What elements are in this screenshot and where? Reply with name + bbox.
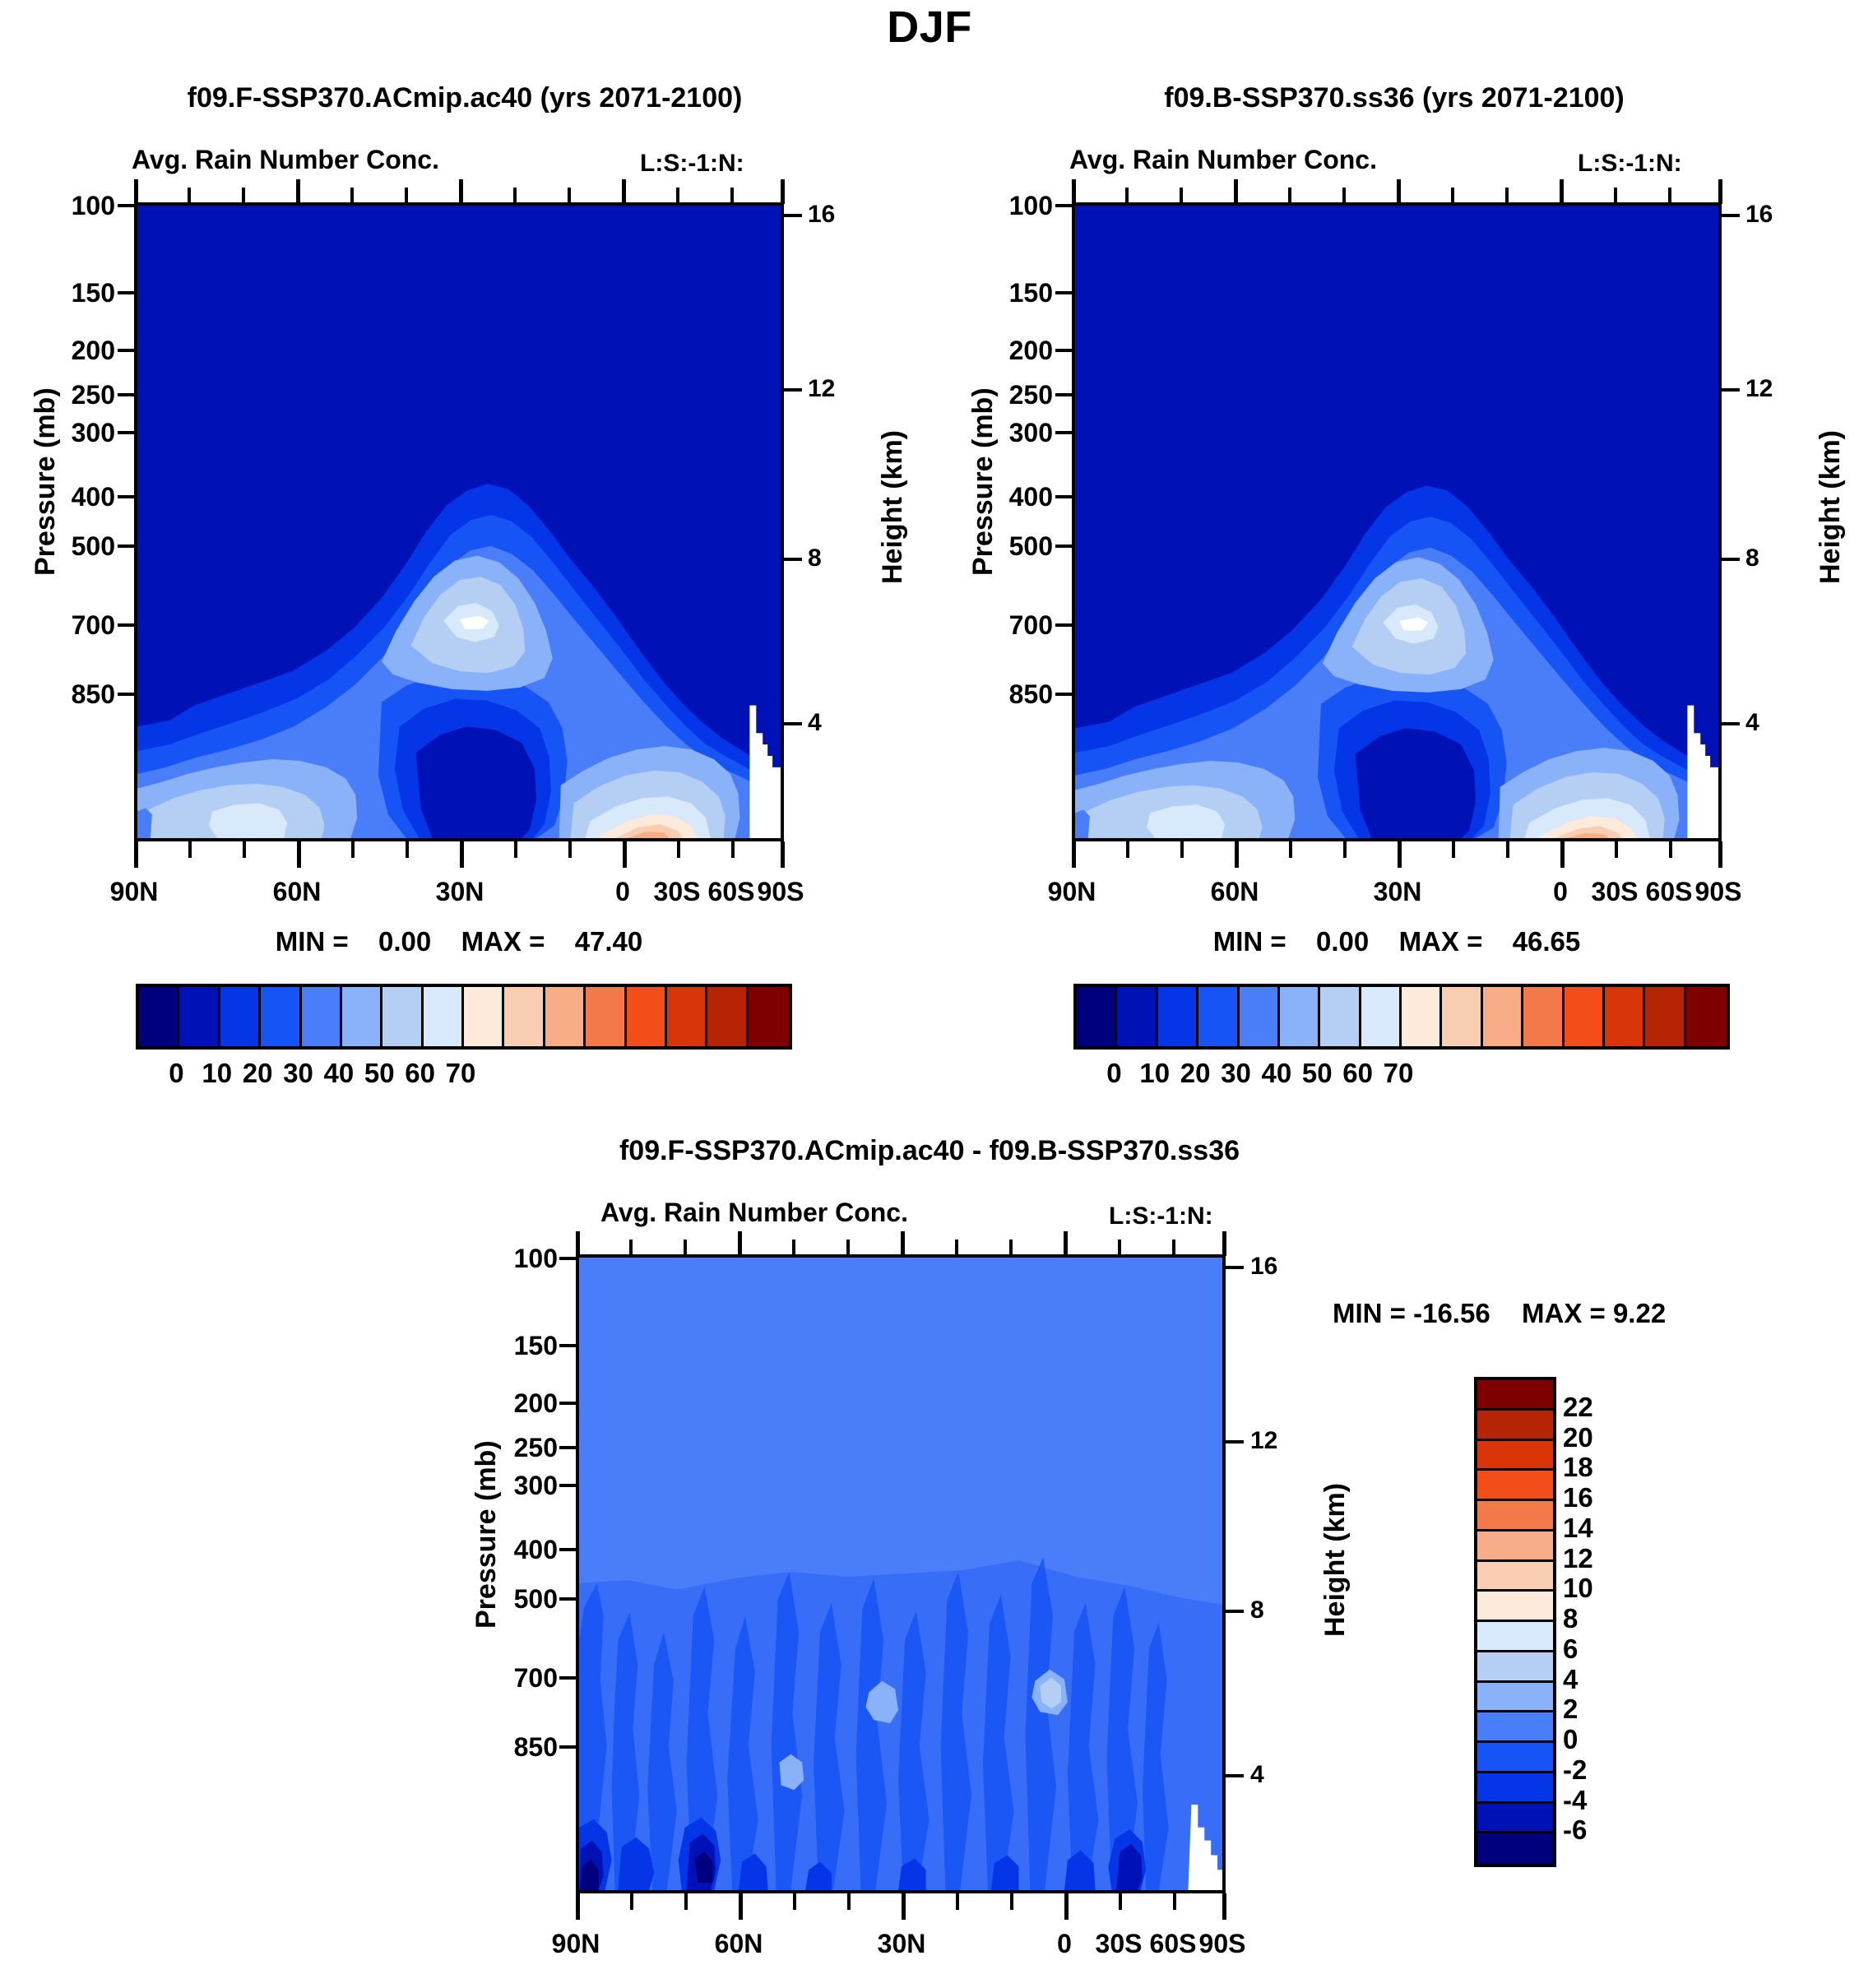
panel-b-htick-mark-12	[1722, 388, 1740, 392]
colorbar-tick-0: 0	[1106, 1058, 1121, 1089]
colorbar-swatch-6	[1477, 1562, 1553, 1592]
panel-b-toptick-minor-2	[1180, 188, 1183, 204]
panel-a-xtick-major-30N	[460, 841, 464, 868]
panel-a-ytick-400: 400	[25, 482, 115, 512]
panel-a-ytick-500: 500	[25, 531, 115, 562]
panel-a-xtick-minor-4	[406, 841, 409, 858]
panel-a-ytick-100: 100	[25, 191, 115, 221]
panel-c-colorbar-labels: 2220181614121086420-2-4-6	[1563, 1377, 1662, 1861]
panel-c-toptick-major-2	[738, 1231, 742, 1256]
panel-b-xtick-major-30N	[1398, 841, 1402, 868]
colorbar-tick-30: 30	[1221, 1058, 1251, 1089]
panel-b-toptick-minor-3	[1288, 188, 1291, 204]
panel-c-min-label: MIN = -16.56	[1333, 1298, 1490, 1328]
panel-a-toptick-minor-7	[676, 188, 679, 204]
panel-a-ytick-mark-300	[118, 431, 136, 434]
colorbar-swatch-2	[220, 987, 261, 1046]
panel-a-htick-12: 12	[808, 375, 835, 403]
panel-b-htick-8: 8	[1745, 544, 1759, 572]
colorbar-tick-0: 0	[169, 1058, 183, 1089]
panel-a-htick-mark-8	[784, 558, 802, 561]
colorbar-tick-20: 20	[1563, 1422, 1593, 1453]
colorbar-swatch-15	[1477, 1833, 1553, 1864]
panel-c-xtick-minor-1	[630, 1893, 633, 1910]
colorbar-swatch-4	[1240, 987, 1280, 1046]
colorbar-swatch-12	[627, 987, 667, 1046]
colorbar-swatch-3	[261, 987, 301, 1046]
panel-b-ytick-300: 300	[962, 418, 1053, 448]
panel-b-toptick-major-1	[1072, 179, 1076, 204]
panel-a-colorbar[interactable]	[136, 984, 792, 1050]
panel-c-toptick-major-1	[576, 1231, 580, 1256]
panel-a-ytick-mark-250	[118, 393, 136, 396]
panel-c-ytick-100: 100	[467, 1244, 558, 1274]
panel-c-toptick-minor-1	[629, 1240, 633, 1256]
panel-b-ytick-700: 700	[962, 610, 1053, 641]
panel-c-ytick-400: 400	[467, 1535, 558, 1565]
panel-a-ytick-mark-200	[118, 349, 136, 352]
colorbar-swatch-0	[1077, 987, 1117, 1046]
panel-b-y2-axis-title: Height (km)	[1815, 430, 1847, 584]
colorbar-tick-8: 8	[1563, 1603, 1578, 1634]
panel-c-ytick-250: 250	[467, 1433, 558, 1463]
colorbar-tick-4: 4	[1563, 1664, 1578, 1695]
panel-a-xtick-minor-2	[243, 841, 246, 858]
panel-b-ytick-150: 150	[962, 278, 1053, 308]
panel-b-ytick-200: 200	[962, 336, 1053, 366]
panel-c-htick-4: 4	[1250, 1761, 1264, 1789]
panel-a-min-value: 0.00	[378, 926, 431, 957]
panel-b-ytick-400: 400	[962, 482, 1053, 512]
colorbar-swatch-8	[1477, 1622, 1553, 1652]
colorbar-tick-30: 30	[283, 1058, 313, 1089]
panel-a-toptick-major-1	[134, 179, 138, 204]
colorbar-swatch-11	[586, 987, 626, 1046]
colorbar-swatch-5	[1280, 987, 1320, 1046]
panel-c-toptick-major-3	[901, 1231, 905, 1256]
colorbar-swatch-8	[464, 987, 504, 1046]
panel-a-toptick-minor-6	[568, 188, 571, 204]
panel-b-ls-label: L:S:-1:N:	[1578, 150, 1682, 178]
panel-c-max-label: MAX = 9.22	[1522, 1298, 1666, 1328]
colorbar-tick-50: 50	[364, 1058, 395, 1089]
colorbar-swatch-1	[179, 987, 220, 1046]
colorbar-swatch-7	[1477, 1592, 1553, 1622]
panel-a-toptick-minor-5	[513, 188, 517, 204]
panel-c-colorbar[interactable]	[1474, 1377, 1556, 1867]
panel-b-contour-field	[1075, 206, 1718, 838]
panel-b-xtick-90N: 90N	[1022, 877, 1121, 907]
colorbar-swatch-13	[667, 987, 707, 1046]
panel-b-toptick-minor-8	[1668, 188, 1671, 204]
panel-a-xtick-90S: 90S	[731, 877, 830, 907]
panel-b-xtick-minor-4	[1343, 841, 1347, 858]
panel-b-ytick-100: 100	[962, 191, 1053, 221]
colorbar-swatch-13	[1477, 1773, 1553, 1804]
panel-a-ls-label: L:S:-1:N:	[640, 150, 744, 178]
panel-a-ytick-mark-100	[118, 204, 136, 207]
panel-b-toptick-minor-7	[1614, 188, 1617, 204]
panel-a-max-label: MAX =	[461, 926, 545, 957]
panel-b-xtick-major-60N	[1235, 841, 1239, 868]
panel-b-ytick-mark-500	[1055, 544, 1073, 548]
panel-c-htick-mark-12	[1226, 1440, 1244, 1444]
colorbar-swatch-4	[302, 987, 342, 1046]
colorbar-swatch-2	[1158, 987, 1198, 1046]
colorbar-swatch-0	[1477, 1380, 1553, 1411]
panel-c-xtick-minor-7	[1119, 1893, 1122, 1910]
colorbar-tick-40: 40	[324, 1058, 355, 1089]
colorbar-tick-10: 10	[1139, 1058, 1170, 1089]
panel-b-max-value: 46.65	[1513, 926, 1581, 957]
panel-b-xtick-90S: 90S	[1669, 877, 1768, 907]
panel-a-htick-mark-4	[784, 722, 802, 725]
panel-b-toptick-minor-5	[1451, 188, 1454, 204]
panel-c-toptick-minor-3	[792, 1240, 795, 1256]
colorbar-tick-10: 10	[1563, 1573, 1593, 1604]
panel-a-variable-label: Avg. Rain Number Conc.	[132, 145, 439, 175]
panel-a-xtick-minor-8	[731, 841, 735, 858]
colorbar-swatch-14	[1477, 1804, 1553, 1834]
panel-a-plot-area[interactable]	[134, 202, 784, 841]
panel-b-toptick-major-5	[1718, 179, 1722, 204]
panel-c-xtick-minor-4	[847, 1893, 851, 1910]
colorbar-swatch-3	[1477, 1471, 1553, 1501]
panel-c-htick-mark-4	[1226, 1774, 1244, 1777]
panel-b-xtick-minor-7	[1615, 841, 1618, 858]
panel-b-xtick-major-90S	[1718, 841, 1722, 868]
colorbar-tick--6: -6	[1563, 1814, 1587, 1846]
panel-b-toptick-minor-1	[1125, 188, 1129, 204]
panel-b-ytick-500: 500	[962, 531, 1053, 562]
panel-c-toptick-minor-4	[846, 1240, 850, 1256]
panel-c-xtick-major-60N	[739, 1893, 743, 1920]
panel-b-ytick-mark-250	[1055, 393, 1073, 396]
panel-a-ytick-200: 200	[25, 336, 115, 366]
colorbar-swatch-6	[1320, 987, 1361, 1046]
colorbar-swatch-10	[1477, 1683, 1553, 1713]
colorbar-tick-20: 20	[1180, 1058, 1211, 1089]
panel-c-toptick-minor-8	[1172, 1240, 1175, 1256]
panel-b-xtick-minor-1	[1126, 841, 1129, 858]
panel-c-xtick-minor-3	[793, 1893, 796, 1910]
panel-c-toptick-minor-6	[1009, 1240, 1013, 1256]
panel-b-ytick-mark-200	[1055, 349, 1073, 352]
panel-a-min-label: MIN =	[276, 926, 349, 957]
panel-c-toptick-major-4	[1064, 1231, 1068, 1256]
panel-c-ytick-mark-200	[559, 1402, 577, 1405]
panel-b-htick-16: 16	[1745, 201, 1773, 229]
colorbar-swatch-15	[749, 987, 789, 1046]
colorbar-swatch-7	[1361, 987, 1402, 1046]
panel-c-ytick-300: 300	[467, 1471, 558, 1501]
colorbar-tick-14: 14	[1563, 1513, 1593, 1544]
panel-a-xtick-30N: 30N	[410, 877, 509, 907]
colorbar-tick-2: 2	[1563, 1694, 1578, 1725]
panel-a-xtick-60N: 60N	[248, 877, 346, 907]
colorbar-swatch-13	[1605, 987, 1645, 1046]
panel-c-xtick-major-0	[1064, 1893, 1069, 1920]
panel-c-ytick-mark-500	[559, 1597, 577, 1601]
panel-a-toptick-minor-3	[350, 188, 354, 204]
colorbar-swatch-4	[1477, 1501, 1553, 1532]
colorbar-swatch-15	[1686, 987, 1727, 1046]
colorbar-tick--4: -4	[1563, 1785, 1587, 1816]
panel-a-xtick-minor-7	[677, 841, 680, 858]
panel-b-htick-mark-4	[1722, 722, 1740, 725]
panel-a-title: f09.F-SSP370.ACmip.ac40 (yrs 2071-2100)	[0, 82, 929, 114]
panel-b-xtick-30N: 30N	[1348, 877, 1447, 907]
panel-b-xtick-major-0	[1560, 841, 1565, 868]
colorbar-tick-16: 16	[1563, 1482, 1593, 1513]
panel-a-htick-8: 8	[808, 544, 822, 572]
colorbar-swatch-14	[707, 987, 748, 1046]
panel-a-toptick-major-3	[459, 179, 463, 204]
panel-b-htick-mark-8	[1722, 558, 1740, 561]
colorbar-swatch-2	[1477, 1441, 1553, 1471]
panel-b-ytick-mark-300	[1055, 431, 1073, 434]
panel-a-toptick-minor-4	[405, 188, 408, 204]
panel-c-title: f09.F-SSP370.ACmip.ac40 - f09.B-SSP370.s…	[465, 1135, 1394, 1167]
panel-b-ytick-250: 250	[962, 380, 1053, 410]
colorbar-tick-70: 70	[1384, 1058, 1414, 1089]
colorbar-swatch-0	[139, 987, 179, 1046]
panel-a-ytick-300: 300	[25, 418, 115, 448]
colorbar-swatch-11	[1477, 1712, 1553, 1743]
panel-c-ytick-mark-850	[559, 1745, 577, 1749]
panel-a-ytick-150: 150	[25, 278, 115, 308]
colorbar-swatch-1	[1117, 987, 1157, 1046]
panel-b-ytick-mark-150	[1055, 291, 1073, 294]
colorbar-swatch-1	[1477, 1411, 1553, 1441]
panel-b-colorbar[interactable]	[1073, 984, 1730, 1050]
panel-c-xtick-major-90S	[1222, 1893, 1226, 1920]
colorbar-swatch-14	[1645, 987, 1685, 1046]
panel-a-xtick-90N: 90N	[85, 877, 183, 907]
panel-a-toptick-minor-2	[242, 188, 245, 204]
panel-a-ytick-700: 700	[25, 610, 115, 641]
panel-b-title: f09.B-SSP370.ss36 (yrs 2071-2100)	[929, 82, 1859, 114]
panel-a-max-value: 47.40	[575, 926, 643, 957]
panel-b-xtick-minor-5	[1452, 841, 1455, 858]
panel-c-variable-label: Avg. Rain Number Conc.	[600, 1198, 908, 1228]
panel-c-xtick-30N: 30N	[852, 1929, 951, 1959]
colorbar-tick-10: 10	[202, 1058, 232, 1089]
panel-b-ytick-mark-850	[1055, 693, 1073, 696]
panel-c-xtick-major-30N	[902, 1893, 906, 1920]
panel-a-ytick-850: 850	[25, 679, 115, 710]
panel-a-xtick-minor-5	[514, 841, 517, 858]
panel-a-toptick-major-4	[622, 179, 626, 204]
figure-season-title: DJF	[0, 2, 1859, 53]
colorbar-tick-50: 50	[1302, 1058, 1333, 1089]
panel-a-ytick-mark-400	[118, 495, 136, 498]
colorbar-tick-6: 6	[1563, 1633, 1578, 1665]
panel-a-xtick-minor-3	[351, 841, 355, 858]
panel-a-y2-axis-title: Height (km)	[877, 430, 909, 584]
panel-c-ls-label: L:S:-1:N:	[1109, 1203, 1213, 1230]
panel-a-xtick-minor-6	[568, 841, 572, 858]
panel-a-contour-field	[137, 206, 781, 838]
panel-a-htick-4: 4	[808, 709, 822, 737]
panel-a-xtick-major-90N	[134, 841, 138, 868]
panel-b-xtick-60N: 60N	[1185, 877, 1284, 907]
panel-b-xtick-minor-3	[1289, 841, 1292, 858]
colorbar-swatch-10	[545, 987, 586, 1046]
colorbar-swatch-7	[424, 987, 464, 1046]
panel-a-xtick-major-60N	[297, 841, 301, 868]
panel-c-ytick-mark-100	[559, 1257, 577, 1260]
panel-c-htick-mark-16	[1226, 1266, 1244, 1269]
colorbar-tick-18: 18	[1563, 1452, 1593, 1483]
panel-c-toptick-minor-5	[955, 1240, 958, 1256]
colorbar-swatch-12	[1477, 1743, 1553, 1773]
panel-c-ytick-mark-300	[559, 1484, 577, 1487]
panel-c-ytick-mark-700	[559, 1676, 577, 1680]
colorbar-swatch-12	[1565, 987, 1605, 1046]
panel-b-xtick-minor-8	[1669, 841, 1672, 858]
panel-b-ytick-mark-700	[1055, 623, 1073, 627]
panel-c-xtick-90N: 90N	[526, 1929, 625, 1959]
panel-c-minmax: MIN = -16.56 MAX = 9.22	[1333, 1298, 1666, 1329]
panel-a-minmax: MIN = 0.00 MAX = 47.40	[134, 926, 784, 957]
panel-c-xtick-minor-8	[1173, 1893, 1176, 1910]
colorbar-swatch-9	[1442, 987, 1482, 1046]
panel-c-toptick-major-5	[1222, 1231, 1226, 1256]
panel-a-ytick-250: 250	[25, 380, 115, 410]
panel-c-ytick-200: 200	[467, 1388, 558, 1419]
panel-a-xtick-minor-1	[188, 841, 192, 858]
colorbar-swatch-3	[1198, 987, 1239, 1046]
colorbar-swatch-9	[504, 987, 545, 1046]
panel-b-htick-12: 12	[1745, 375, 1773, 403]
panel-b-xtick-major-90N	[1072, 841, 1076, 868]
panel-b-toptick-minor-4	[1342, 188, 1346, 204]
panel-b-xtick-minor-6	[1506, 841, 1509, 858]
colorbar-tick--2: -2	[1563, 1754, 1587, 1786]
panel-b-xtick-minor-2	[1180, 841, 1184, 858]
panel-c-plot-area[interactable]	[576, 1254, 1226, 1893]
colorbar-tick-40: 40	[1262, 1058, 1292, 1089]
panel-c-ytick-mark-150	[559, 1344, 577, 1347]
panel-c-xtick-minor-5	[956, 1893, 959, 1910]
panel-a-ytick-mark-150	[118, 291, 136, 294]
panel-b-ytick-mark-100	[1055, 204, 1073, 207]
colorbar-swatch-8	[1402, 987, 1442, 1046]
panel-b-toptick-major-4	[1560, 179, 1564, 204]
panel-c-toptick-minor-7	[1118, 1240, 1121, 1256]
colorbar-tick-60: 60	[1342, 1058, 1373, 1089]
colorbar-tick-0: 0	[1563, 1724, 1578, 1755]
panel-a-colorbar-labels: 010203040506070	[136, 1058, 786, 1094]
colorbar-tick-70: 70	[446, 1058, 476, 1089]
colorbar-swatch-11	[1523, 987, 1564, 1046]
panel-a-toptick-minor-8	[730, 188, 734, 204]
panel-c-htick-12: 12	[1250, 1427, 1277, 1455]
panel-c-xtick-90S: 90S	[1173, 1929, 1272, 1959]
panel-c-ytick-150: 150	[467, 1331, 558, 1361]
panel-c-contour-field	[579, 1258, 1222, 1890]
panel-a-htick-mark-16	[784, 214, 802, 217]
panel-b-htick-mark-16	[1722, 214, 1740, 217]
panel-c-ytick-850: 850	[467, 1732, 558, 1763]
panel-c-xtick-minor-6	[1010, 1893, 1013, 1910]
panel-b-min-label: MIN =	[1213, 926, 1286, 957]
panel-c-xtick-minor-2	[684, 1893, 688, 1910]
colorbar-swatch-5	[1477, 1532, 1553, 1562]
colorbar-swatch-10	[1483, 987, 1523, 1046]
panel-b-variable-label: Avg. Rain Number Conc.	[1069, 145, 1377, 175]
panel-b-colorbar-labels: 010203040506070	[1073, 1058, 1723, 1094]
panel-c-htick-8: 8	[1250, 1596, 1264, 1624]
colorbar-swatch-9	[1477, 1652, 1553, 1683]
panel-c-y2-axis-title: Height (km)	[1319, 1483, 1351, 1637]
panel-a-toptick-major-2	[296, 179, 300, 204]
panel-a-xtick-major-90S	[781, 841, 785, 868]
panel-b-htick-4: 4	[1745, 709, 1759, 737]
panel-c-ytick-500: 500	[467, 1584, 558, 1615]
panel-b-min-value: 0.00	[1316, 926, 1369, 957]
panel-b-toptick-major-3	[1397, 179, 1401, 204]
panel-c-htick-mark-8	[1226, 1610, 1244, 1613]
panel-c-xtick-major-90N	[576, 1893, 580, 1920]
panel-a-ytick-mark-850	[118, 693, 136, 696]
panel-c-ytick-mark-250	[559, 1446, 577, 1449]
panel-c-toptick-minor-2	[684, 1240, 687, 1256]
panel-b-toptick-minor-6	[1505, 188, 1509, 204]
panel-a-ytick-mark-700	[118, 623, 136, 627]
colorbar-tick-22: 22	[1563, 1392, 1593, 1423]
colorbar-swatch-6	[382, 987, 423, 1046]
panel-c-xtick-60N: 60N	[689, 1929, 788, 1959]
panel-b-toptick-major-2	[1234, 179, 1238, 204]
colorbar-tick-12: 12	[1563, 1543, 1593, 1574]
panel-c-htick-16: 16	[1250, 1253, 1277, 1281]
panel-a-htick-16: 16	[808, 201, 835, 229]
colorbar-tick-20: 20	[243, 1058, 273, 1089]
panel-b-max-label: MAX =	[1399, 926, 1483, 957]
panel-c-ytick-700: 700	[467, 1663, 558, 1694]
panel-b-plot-area[interactable]	[1072, 202, 1722, 841]
panel-c-ytick-mark-400	[559, 1548, 577, 1551]
panel-a-toptick-minor-1	[188, 188, 191, 204]
panel-b-minmax: MIN = 0.00 MAX = 46.65	[1072, 926, 1722, 957]
panel-a-ytick-mark-500	[118, 544, 136, 548]
panel-a-htick-mark-12	[784, 388, 802, 392]
colorbar-tick-60: 60	[405, 1058, 435, 1089]
panel-b-ytick-mark-400	[1055, 495, 1073, 498]
panel-b-ytick-850: 850	[962, 679, 1053, 710]
panel-a-toptick-major-5	[781, 179, 785, 204]
colorbar-swatch-5	[342, 987, 382, 1046]
panel-a-xtick-major-0	[623, 841, 627, 868]
